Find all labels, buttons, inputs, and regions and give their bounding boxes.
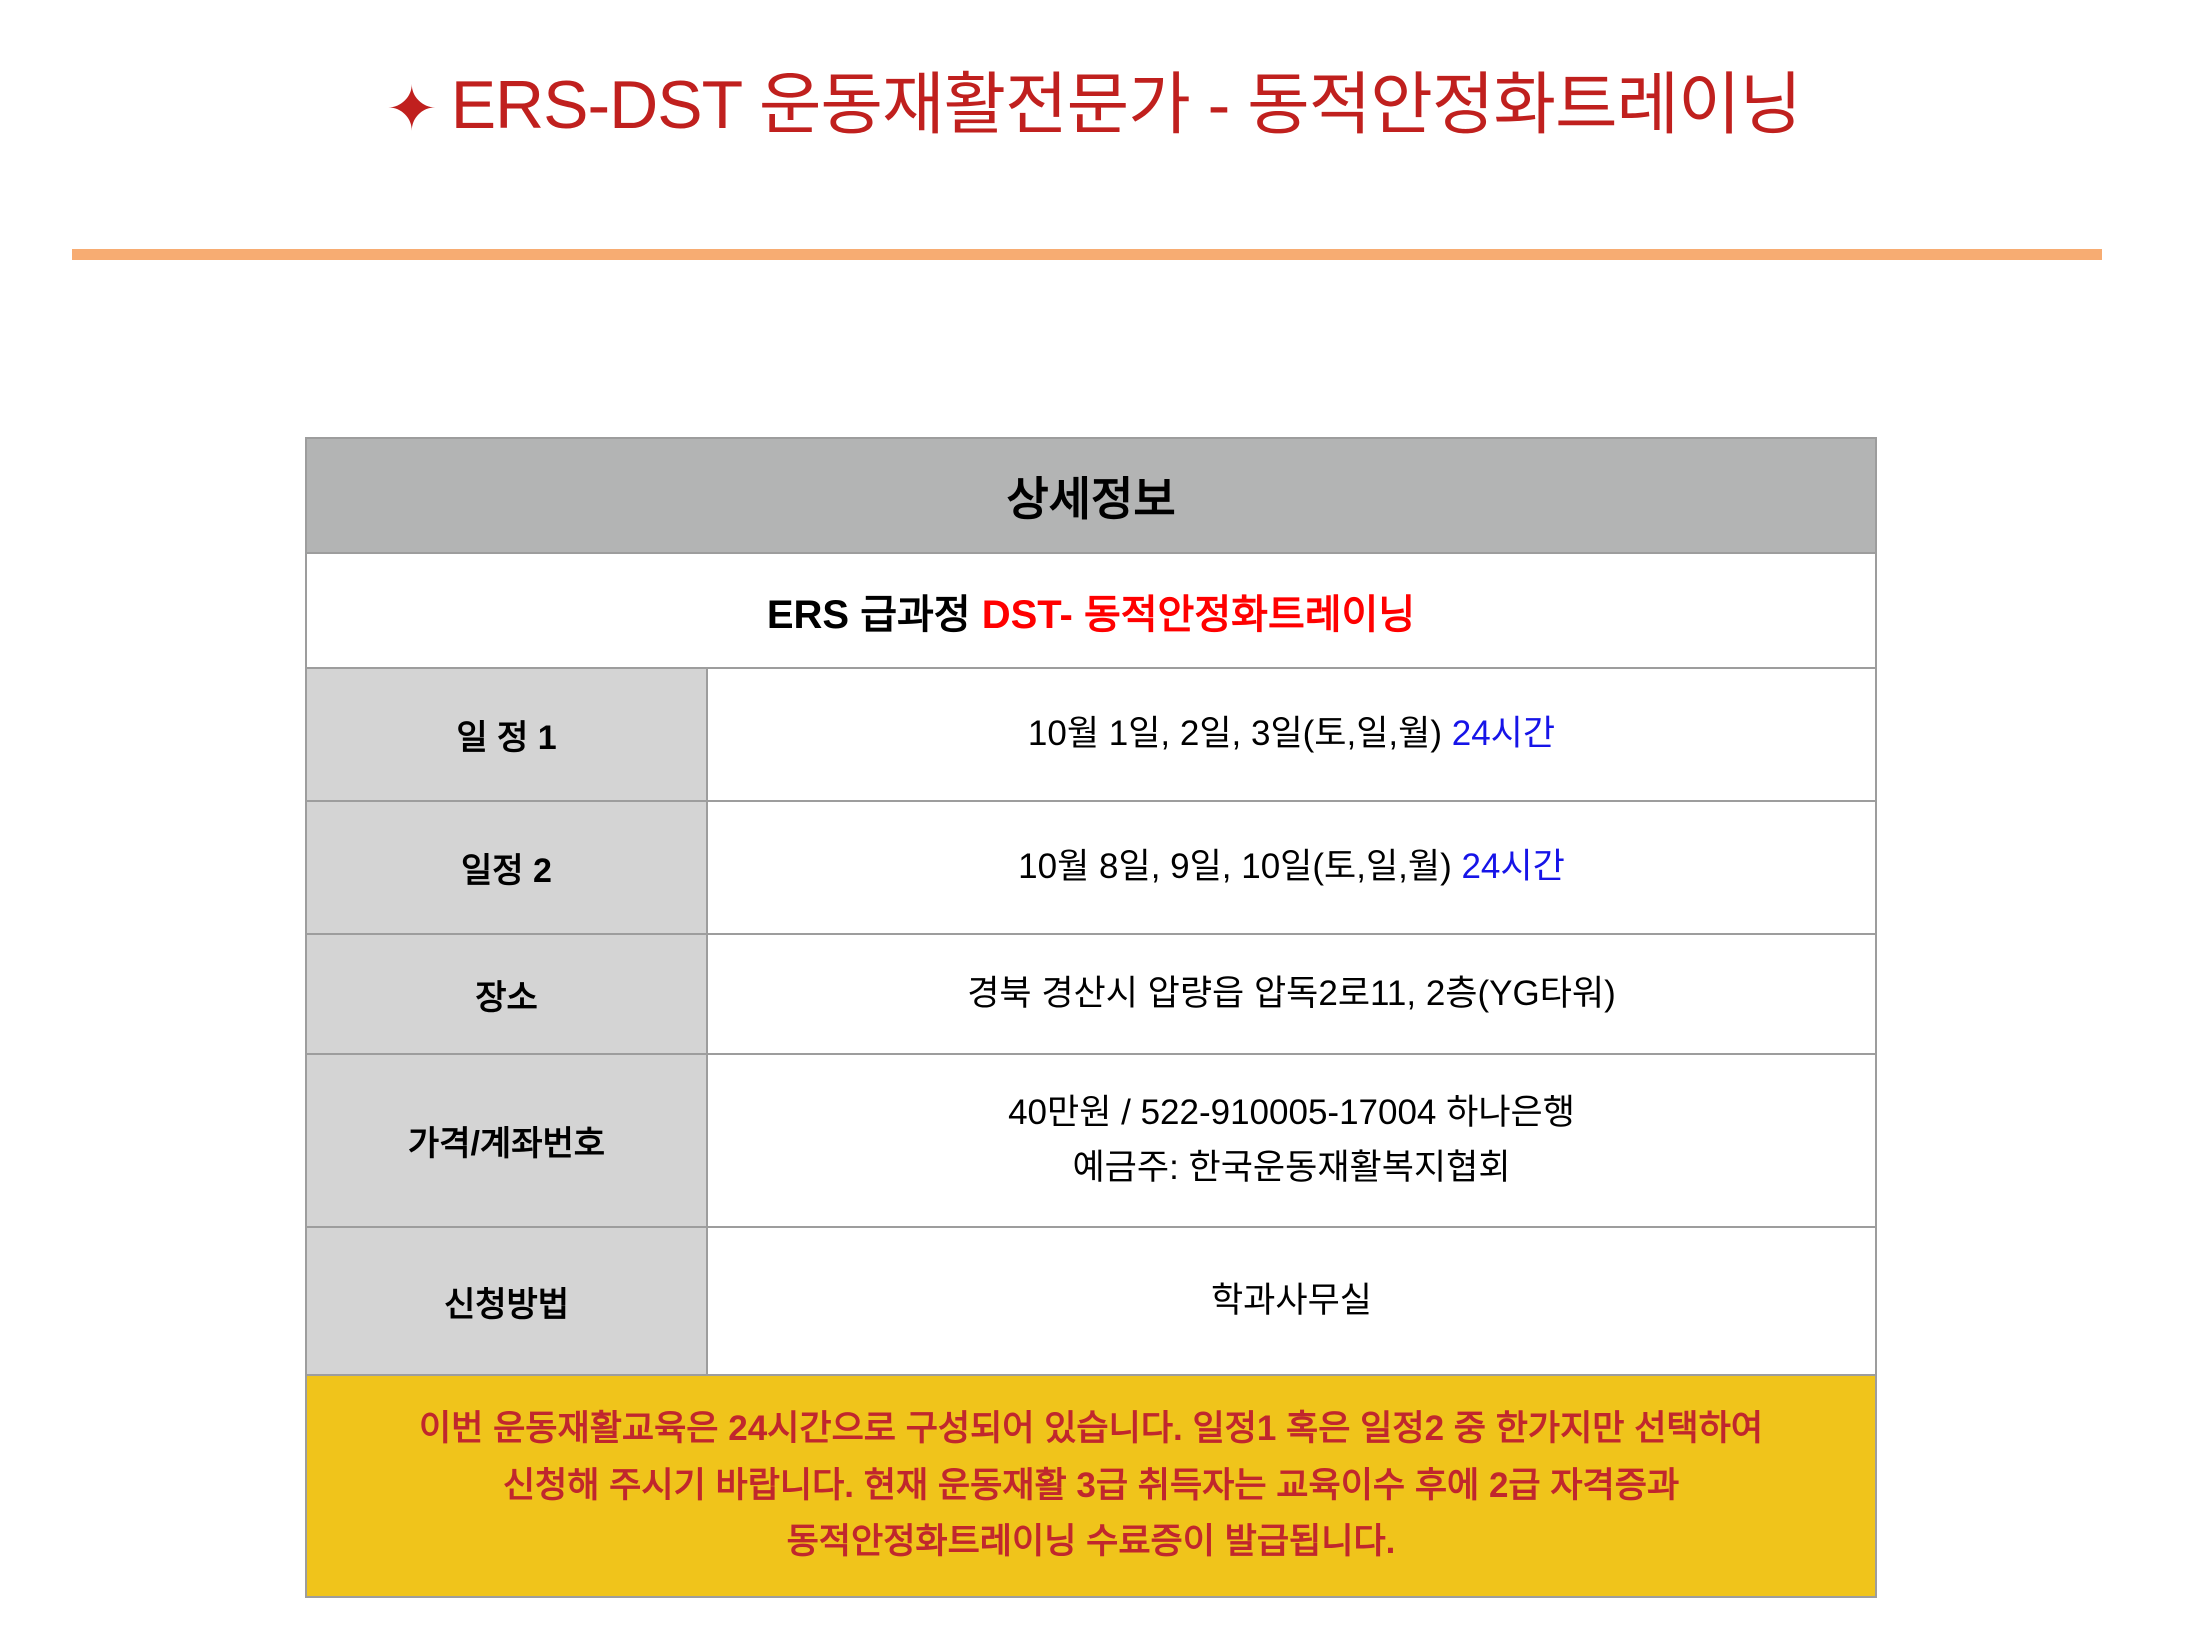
table-row: 일정 2 10월 8일, 9일, 10일(토,일,월) 24시간	[306, 801, 1876, 934]
row-label-schedule-1: 일 정 1	[306, 668, 707, 801]
table-subtitle-cell: ERS 급과정 DST- 동적안정화트레이닝	[306, 553, 1876, 668]
page-title: ✦ERS-DST 운동재활전문가 - 동적안정화트레이닝	[0, 68, 2187, 144]
row-label-schedule-2: 일정 2	[306, 801, 707, 934]
schedule-1-dates: 10월 1일, 2일, 3일(토,일,월)	[1028, 714, 1452, 753]
row-label-application-method: 신청방법	[306, 1227, 707, 1375]
note-banner: 이번 운동재활교육은 24시간으로 구성되어 있습니다. 일정1 혹은 일정2 …	[306, 1375, 1876, 1597]
subtitle-accent-text: DST- 동적안정화트레이닝	[982, 593, 1415, 637]
row-value-schedule-1: 10월 1일, 2일, 3일(토,일,월) 24시간	[707, 668, 1876, 801]
row-value-price-account: 40만원 / 522-910005-17004 하나은행 예금주: 한국운동재활…	[707, 1054, 1876, 1227]
row-value-application-method: 학과사무실	[707, 1227, 1876, 1375]
table-subtitle-row: ERS 급과정 DST- 동적안정화트레이닝	[306, 553, 1876, 668]
title-divider-rule	[72, 249, 2102, 260]
schedule-2-dates: 10월 8일, 9일, 10일(토,일,월)	[1018, 847, 1461, 886]
table-header-row: 상세정보	[306, 438, 1876, 553]
note-line-2: 신청해 주시기 바랍니다. 현재 운동재활 3급 취득자는 교육이수 후에 2급…	[307, 1458, 1875, 1515]
row-value-schedule-2: 10월 8일, 9일, 10일(토,일,월) 24시간	[707, 801, 1876, 934]
table-row: 신청방법 학과사무실	[306, 1227, 1876, 1375]
schedule-1-hours: 24시간	[1452, 714, 1555, 753]
table-row: 장소 경북 경산시 압량읍 압독2로11, 2층(YG타워)	[306, 934, 1876, 1054]
price-account-line-1: 40만원 / 522-910005-17004 하나은행	[708, 1086, 1875, 1140]
price-account-line-2: 예금주: 한국운동재활복지협회	[708, 1141, 1875, 1195]
subtitle-plain-text: ERS 급과정	[767, 593, 982, 637]
table-row: 가격/계좌번호 40만원 / 522-910005-17004 하나은행 예금주…	[306, 1054, 1876, 1227]
table-note-row: 이번 운동재활교육은 24시간으로 구성되어 있습니다. 일정1 혹은 일정2 …	[306, 1375, 1876, 1597]
details-table: 상세정보 ERS 급과정 DST- 동적안정화트레이닝 일 정 1 10월 1일…	[305, 437, 1877, 1598]
note-line-3: 동적안정화트레이닝 수료증이 발급됩니다.	[307, 1514, 1875, 1571]
row-label-price-account: 가격/계좌번호	[306, 1054, 707, 1227]
note-line-1: 이번 운동재활교육은 24시간으로 구성되어 있습니다. 일정1 혹은 일정2 …	[307, 1401, 1875, 1458]
table-row: 일 정 1 10월 1일, 2일, 3일(토,일,월) 24시간	[306, 668, 1876, 801]
table-header-cell: 상세정보	[306, 438, 1876, 553]
page-title-text: ERS-DST 운동재활전문가 - 동적안정화트레이닝	[451, 67, 1802, 143]
flower-bullet-icon: ✦	[386, 76, 437, 144]
schedule-2-hours: 24시간	[1461, 847, 1564, 886]
row-value-location: 경북 경산시 압량읍 압독2로11, 2층(YG타워)	[707, 934, 1876, 1054]
row-label-location: 장소	[306, 934, 707, 1054]
